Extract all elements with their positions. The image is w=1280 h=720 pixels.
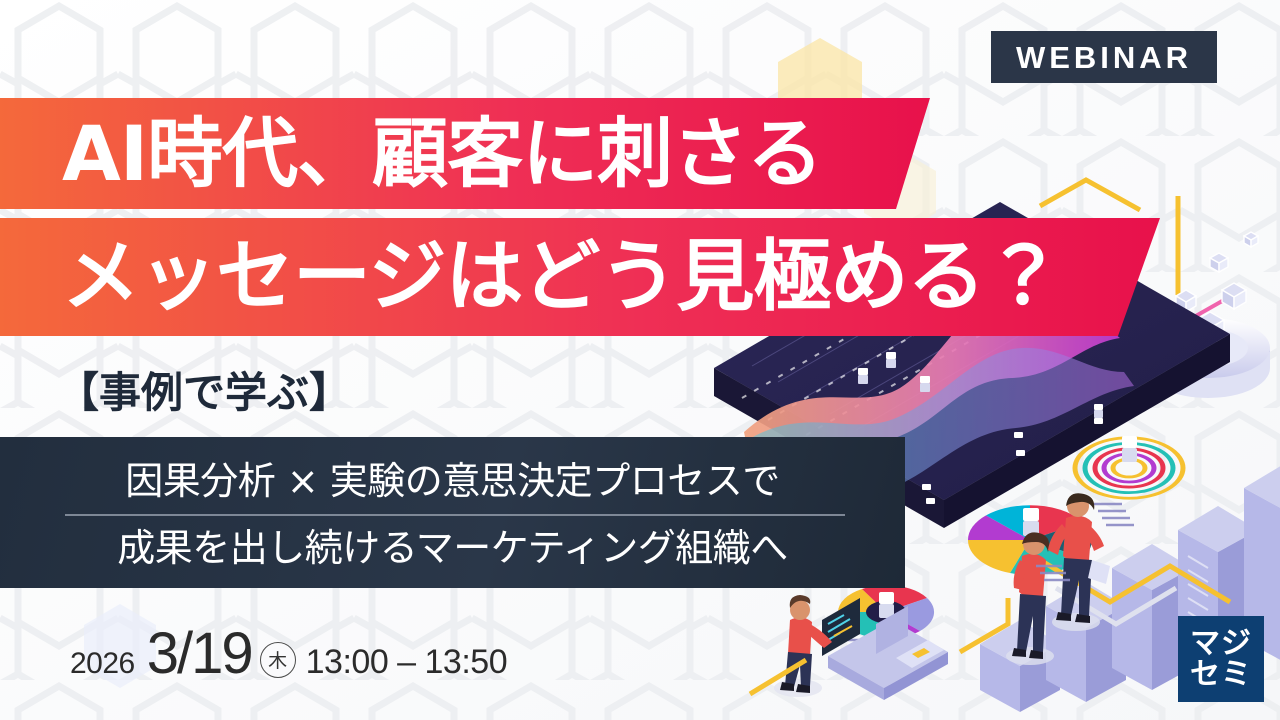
schedule-year: 2026 [70, 647, 135, 681]
webinar-badge-label: WEBINAR [1016, 42, 1192, 73]
title-band-line2: メッセージはどう見極める？ [0, 218, 1160, 336]
schedule-monthday: 3/19 [147, 620, 252, 687]
logo-line2: セミ [1190, 659, 1252, 691]
schedule-dayofweek: 木 [260, 642, 296, 678]
webinar-badge: WEBINAR [991, 31, 1217, 83]
title-line1-text: AI時代、顧客に刺さる [62, 116, 822, 192]
schedule-time: 13:00 – 13:50 [306, 643, 507, 682]
logo-line1: マジ [1190, 628, 1252, 660]
webinar-banner: WEBINAR AI時代、顧客に刺さる [0, 0, 1280, 720]
subtitle-panel: 因果分析 × 実験の意思決定プロセスで 成果を出し続けるマーケティング組織へ [0, 437, 905, 588]
subtitle-line1: 因果分析 × 実験の意思決定プロセスで [0, 462, 905, 500]
title-band-line1: AI時代、顧客に刺さる [0, 98, 930, 209]
schedule-row: 2026 3/19 木 13:00 – 13:50 [70, 620, 507, 687]
majisemi-logo: マジ セミ [1178, 616, 1264, 702]
subtitle-divider [65, 514, 845, 516]
subtitle-line2: 成果を出し続けるマーケティング組織へ [0, 529, 905, 567]
bracket-headline: 【事例で学ぶ】 [57, 372, 351, 414]
title-line2-text: メッセージはどう見極める？ [62, 238, 1061, 316]
